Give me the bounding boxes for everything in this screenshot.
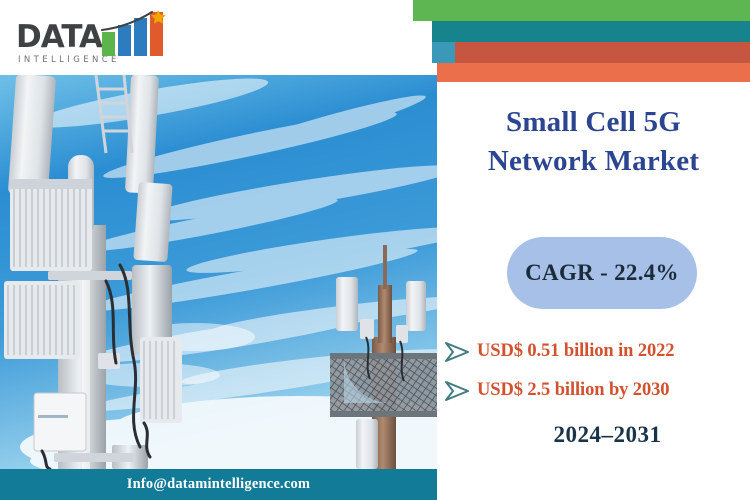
list-item: USD$ 2.5 billion by 2030 xyxy=(437,374,750,407)
brand-logo[interactable]: DATA INTELLIGENCE xyxy=(12,10,172,70)
5g-cell-tower-antennas-photo xyxy=(0,75,437,469)
footer-email[interactable]: Info@datamintelligence.com xyxy=(127,476,310,493)
header-bar-teal xyxy=(432,21,750,42)
triangle-right-icon xyxy=(437,341,477,363)
triangle-right-icon xyxy=(437,380,477,402)
market-stats-list: USD$ 0.51 billion in 2022 USD$ 2.5 billi… xyxy=(437,335,750,413)
logo-wordmark: DATA xyxy=(16,22,102,53)
list-item: USD$ 0.51 billion in 2022 xyxy=(437,335,750,368)
footer-contact-bar: Info@datamintelligence.com xyxy=(0,469,437,500)
stat-value-2030: USD$ 2.5 billion by 2030 xyxy=(477,380,669,401)
header-bar-green xyxy=(413,0,750,21)
page-title-line1: Small Cell 5G xyxy=(437,103,750,142)
forecast-period: 2024–2031 xyxy=(437,422,750,448)
header-bar-rust xyxy=(455,42,750,63)
header-bar-orange xyxy=(437,63,750,82)
logo-subtitle: INTELLIGENCE xyxy=(18,56,120,65)
page-title-line2: Network Market xyxy=(437,142,750,181)
stat-value-2022: USD$ 0.51 billion in 2022 xyxy=(477,341,674,362)
cagr-badge: CAGR - 22.4% xyxy=(507,237,697,309)
header-bar-blue-square xyxy=(432,42,455,63)
content-column: Small Cell 5G Network Market CAGR - 22.4… xyxy=(437,82,750,500)
infographic-canvas: DATA INTELLIGENCE xyxy=(0,0,750,500)
page-title: Small Cell 5G Network Market xyxy=(437,103,750,180)
bar-chart-growth-icon xyxy=(100,10,172,56)
cagr-label: CAGR - 22.4% xyxy=(525,260,679,286)
